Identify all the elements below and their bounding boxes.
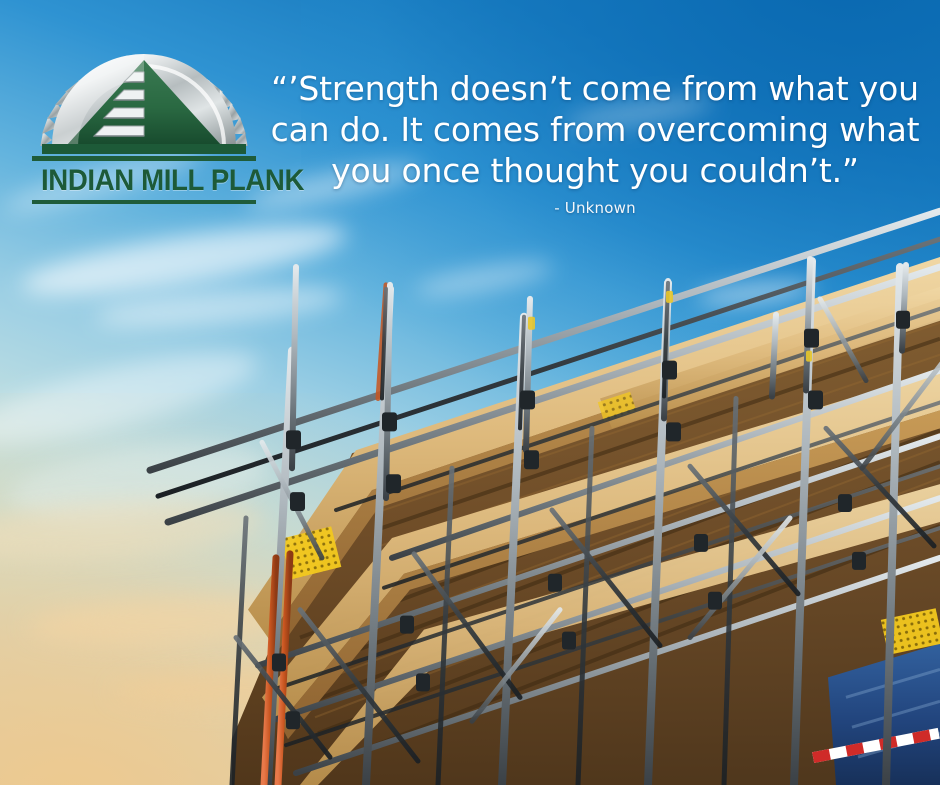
wordmark-rule-bottom: [32, 200, 256, 204]
poster-canvas: INDIAN MILL PLANK “’Strength doesn’t com…: [0, 0, 940, 788]
brand-name: INDIAN MILL PLANK: [41, 164, 247, 198]
sawblade-mountain-logo-icon: [26, 24, 262, 164]
brand-wordmark: INDIAN MILL PLANK: [32, 156, 256, 204]
wordmark-rule-top: [32, 156, 256, 161]
brand-logo[interactable]: INDIAN MILL PLANK: [26, 24, 262, 204]
